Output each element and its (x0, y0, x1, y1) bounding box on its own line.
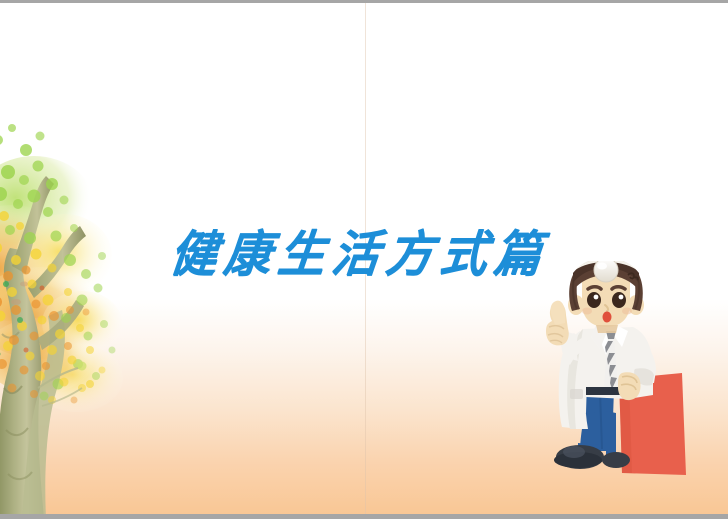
doctor-neck (596, 325, 618, 333)
slide-viewer: 健康生活方式篇 (0, 0, 728, 519)
viewer-top-bar (0, 0, 728, 3)
doctor-shoes (554, 445, 630, 469)
slide-title-text: 健康生活方式篇 (167, 224, 574, 287)
viewer-bottom-bar (0, 514, 728, 519)
slide-title: 健康生活方式篇 (170, 225, 570, 287)
doctor-belt (586, 387, 620, 395)
doctor-head (568, 261, 644, 327)
cartoon-doctor-character (536, 261, 716, 486)
autumn-tree-illustration (0, 88, 157, 514)
slide-canvas: 健康生活方式篇 (0, 3, 728, 514)
